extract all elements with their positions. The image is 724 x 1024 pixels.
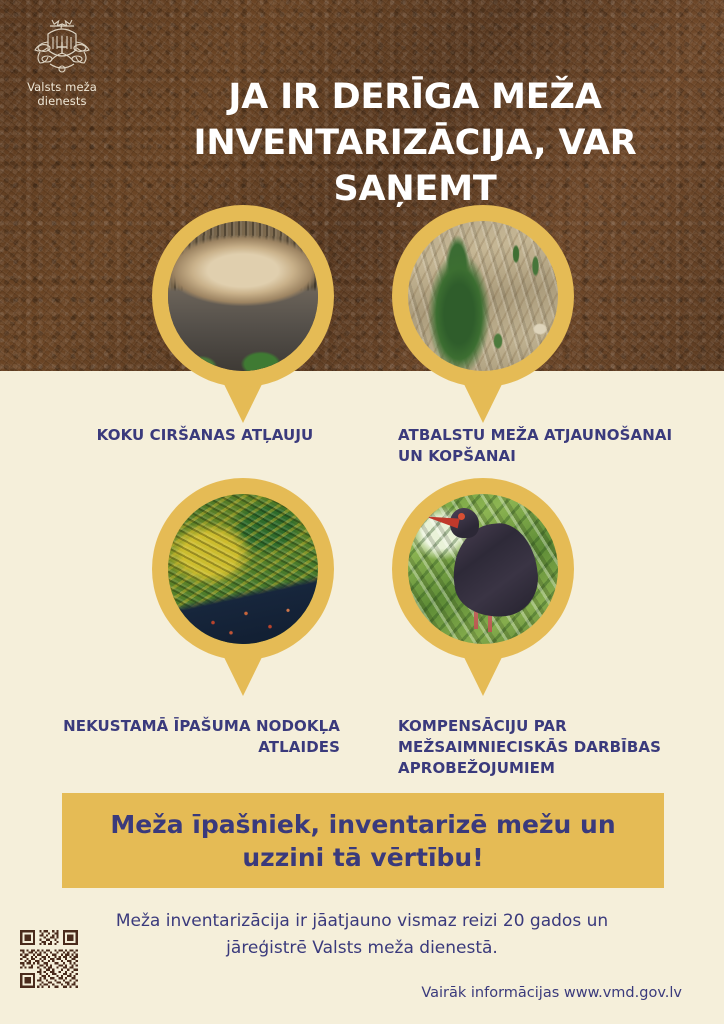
benefit-caption-1: KOKU CIRŠANAS ATĻAUJU (70, 425, 340, 446)
call-to-action-banner: Meža īpašniek, inventarizē mežu un uzzin… (62, 793, 664, 888)
organization-name: Valsts meža dienests (14, 81, 110, 108)
footer-website-link[interactable]: Vairāk informācijas www.vmd.gov.lv (421, 984, 682, 1002)
aerial-forest-river-photo (168, 494, 318, 644)
benefit-pin-3 (152, 478, 334, 696)
organization-logo: Valsts meža dienests (14, 12, 110, 108)
note-text: Meža inventarizācija ir jāatjauno vismaz… (92, 908, 632, 962)
qr-code-icon[interactable] (18, 928, 80, 990)
benefit-caption-4: KOMPENSĀCIJU PAR MEŽSAIMNIECISKĀS DARBĪB… (398, 716, 684, 779)
call-to-action-text: Meža īpašniek, inventarizē mežu un uzzin… (62, 808, 664, 874)
poster-root: Valsts meža dienests JA IR DERĪGA MEŽA I… (0, 0, 724, 1024)
benefit-pin-1 (152, 205, 334, 423)
latvian-coat-of-arms-icon (26, 12, 98, 78)
benefit-pin-2 (392, 205, 574, 423)
organization-name-line2: dienests (14, 95, 110, 109)
organization-name-line1: Valsts meža (14, 81, 110, 95)
benefit-caption-2: ATBALSTU MEŽA ATJAUNOŠANAI UN KOPŠANAI (398, 425, 684, 467)
tree-stump-photo (168, 221, 318, 371)
black-stork-photo (408, 494, 558, 644)
conifer-sapling-photo (408, 221, 558, 371)
poster-title: JA IR DERĪGA MEŽA INVENTARIZĀCIJA, VAR S… (120, 74, 710, 212)
benefit-pin-4 (392, 478, 574, 696)
benefit-caption-3: NEKUSTAMĀ ĪPAŠUMA NODOKĻA ATLAIDES (40, 716, 340, 758)
